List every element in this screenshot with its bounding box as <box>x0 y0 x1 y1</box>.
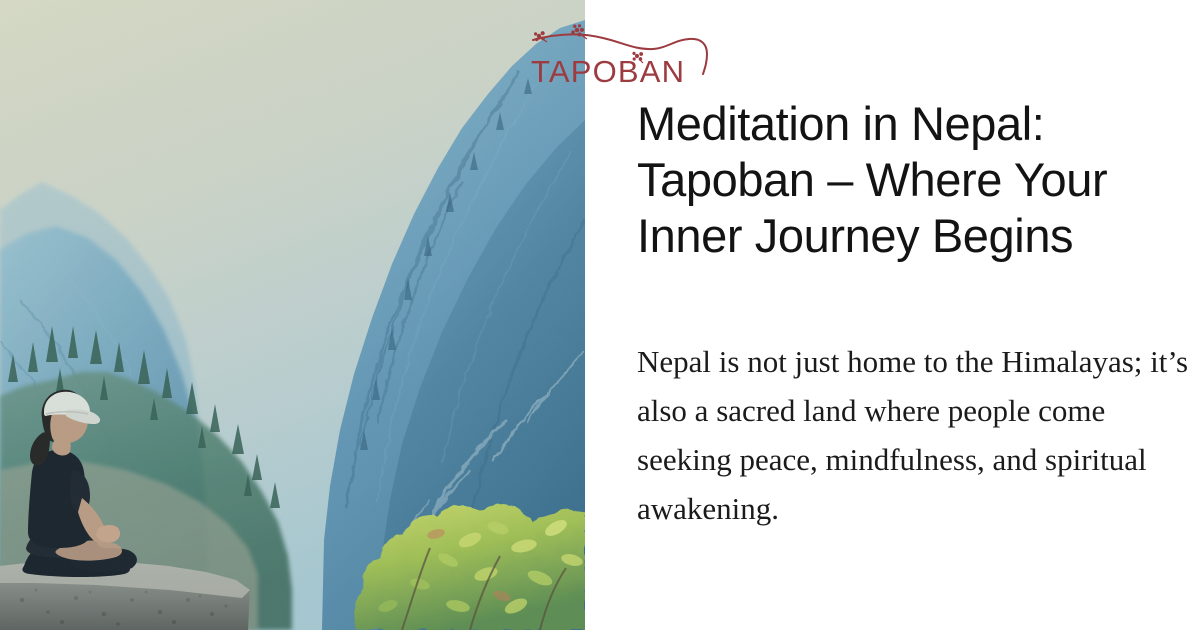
hero-banner: TAPOBAN Meditation in Nepal: Tapoban – W… <box>0 0 1200 630</box>
page-title: Meditation in Nepal: Tapoban – Where You… <box>637 96 1177 264</box>
hero-photo <box>0 0 585 630</box>
lede-paragraph: Nepal is not just home to the Himalayas;… <box>637 337 1192 533</box>
tapoban-logo-mark: TAPOBAN <box>525 16 725 86</box>
text-panel: TAPOBAN Meditation in Nepal: Tapoban – W… <box>585 0 1200 630</box>
mountain-meditation-illustration <box>0 0 585 630</box>
brand-logo[interactable]: TAPOBAN <box>525 16 725 86</box>
brand-wordmark: TAPOBAN <box>531 54 685 89</box>
